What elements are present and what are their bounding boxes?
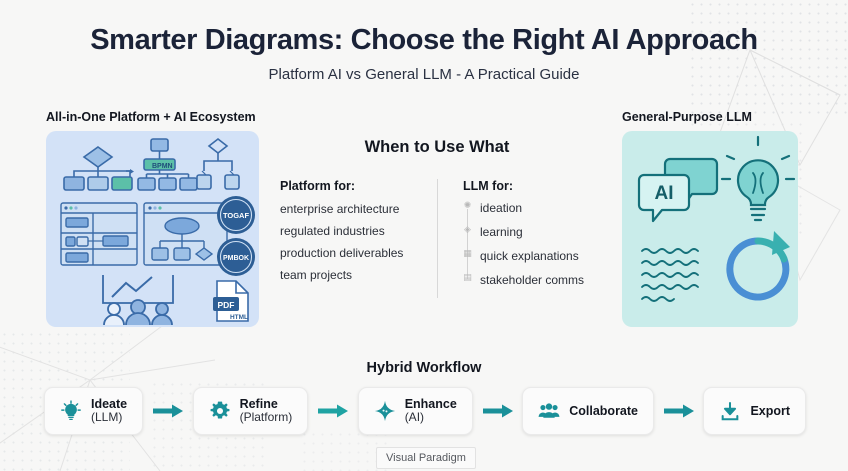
platform-column: Platform for: enterprise architecture re…	[272, 179, 437, 298]
explanation-marker-icon: ▦	[463, 249, 472, 258]
platform-item: production deliverables	[280, 246, 405, 260]
platform-item: enterprise architecture	[280, 202, 405, 216]
llm-item-list: ✺ ideation ◈ learning ▦ quick explanatio…	[463, 202, 602, 286]
llm-item-label: ideation	[480, 201, 522, 215]
workflow-title: Hybrid Workflow	[0, 360, 848, 376]
ai-bubble-label: AI	[655, 183, 674, 204]
ai-chat-bubbles	[639, 159, 717, 221]
people-icon	[538, 400, 560, 422]
text-lines-squiggle	[642, 249, 698, 301]
pdf-label: PDF	[218, 300, 235, 310]
diagram-window	[144, 203, 227, 265]
llm-heading: LLM for:	[463, 179, 602, 193]
stakeholder-marker-icon: ▤	[463, 273, 472, 282]
sparkle-icon	[374, 400, 396, 422]
platform-heading: Platform for:	[280, 179, 437, 193]
general-llm-panel: AI	[622, 131, 798, 327]
wireframe-window	[61, 203, 137, 265]
when-to-use-section: When to Use What Platform for: enterpris…	[272, 138, 602, 298]
workflow-row: Ideate (LLM) Refine (Platform) Enhance (…	[44, 386, 806, 436]
workflow-arrow	[473, 404, 522, 418]
html-label: HTML	[230, 314, 248, 321]
pmbok-label: PMBOK	[223, 255, 249, 262]
platform-item: team projects	[280, 268, 405, 282]
llm-item-label: quick explanations	[480, 249, 579, 263]
list-item: ◈ learning	[463, 226, 602, 238]
step-sublabel: (Platform)	[240, 411, 293, 425]
workflow-arrow	[654, 404, 703, 418]
step-label: Collaborate	[569, 404, 638, 418]
gear-icon	[209, 400, 231, 422]
step-sublabel: (AI)	[405, 411, 457, 425]
timeline-rail	[467, 209, 468, 279]
bpmn-label: BPMN	[152, 163, 173, 170]
learning-marker-icon: ◈	[463, 225, 472, 234]
llm-icon-collage: AI	[622, 131, 798, 327]
workflow-step-refine[interactable]: Refine (Platform)	[193, 387, 309, 435]
togaf-label: TOGAF	[223, 211, 250, 220]
workflow-step-export[interactable]: Export	[703, 387, 806, 435]
platform-item: regulated industries	[280, 224, 405, 238]
workflow-arrow	[308, 404, 357, 418]
step-label: Export	[750, 404, 790, 418]
left-panel-caption: All-in-One Platform + AI Ecosystem	[46, 110, 256, 124]
step-sublabel: (LLM)	[91, 411, 127, 425]
right-panel-caption: General-Purpose LLM	[622, 110, 752, 124]
download-icon	[719, 400, 741, 422]
platform-icon-collage: BPMN	[46, 131, 259, 327]
page-subtitle: Platform AI vs General LLM - A Practical…	[0, 66, 848, 83]
workflow-arrow	[143, 404, 192, 418]
workflow-step-enhance[interactable]: Enhance (AI)	[358, 387, 473, 435]
visual-paradigm-badge: Visual Paradigm	[376, 447, 476, 469]
list-item: ▦ quick explanations	[463, 250, 602, 262]
refresh-regenerate	[730, 231, 790, 297]
step-label: Refine	[240, 397, 293, 411]
list-item: ✺ ideation	[463, 202, 602, 214]
step-label: Ideate	[91, 397, 127, 411]
platform-ecosystem-panel: BPMN	[46, 131, 259, 327]
team-presentation	[103, 275, 173, 325]
llm-item-label: stakeholder comms	[480, 273, 584, 287]
workflow-step-collaborate[interactable]: Collaborate	[522, 387, 654, 435]
lightbulb-idea	[722, 137, 794, 220]
llm-item-label: learning	[480, 225, 523, 239]
list-item: ▤ stakeholder comms	[463, 274, 602, 286]
flowchart-diagram	[64, 147, 134, 190]
llm-column: LLM for: ✺ ideation ◈ learning ▦ quick e…	[437, 179, 602, 298]
header: Smarter Diagrams: Choose the Right AI Ap…	[0, 0, 848, 83]
step-label: Enhance	[405, 397, 457, 411]
ideation-marker-icon: ✺	[463, 201, 472, 210]
decision-flow	[197, 139, 239, 189]
page-title: Smarter Diagrams: Choose the Right AI Ap…	[0, 25, 848, 57]
section-title: When to Use What	[272, 138, 602, 157]
lightbulb-icon	[60, 400, 82, 422]
workflow-step-ideate[interactable]: Ideate (LLM)	[44, 387, 143, 435]
